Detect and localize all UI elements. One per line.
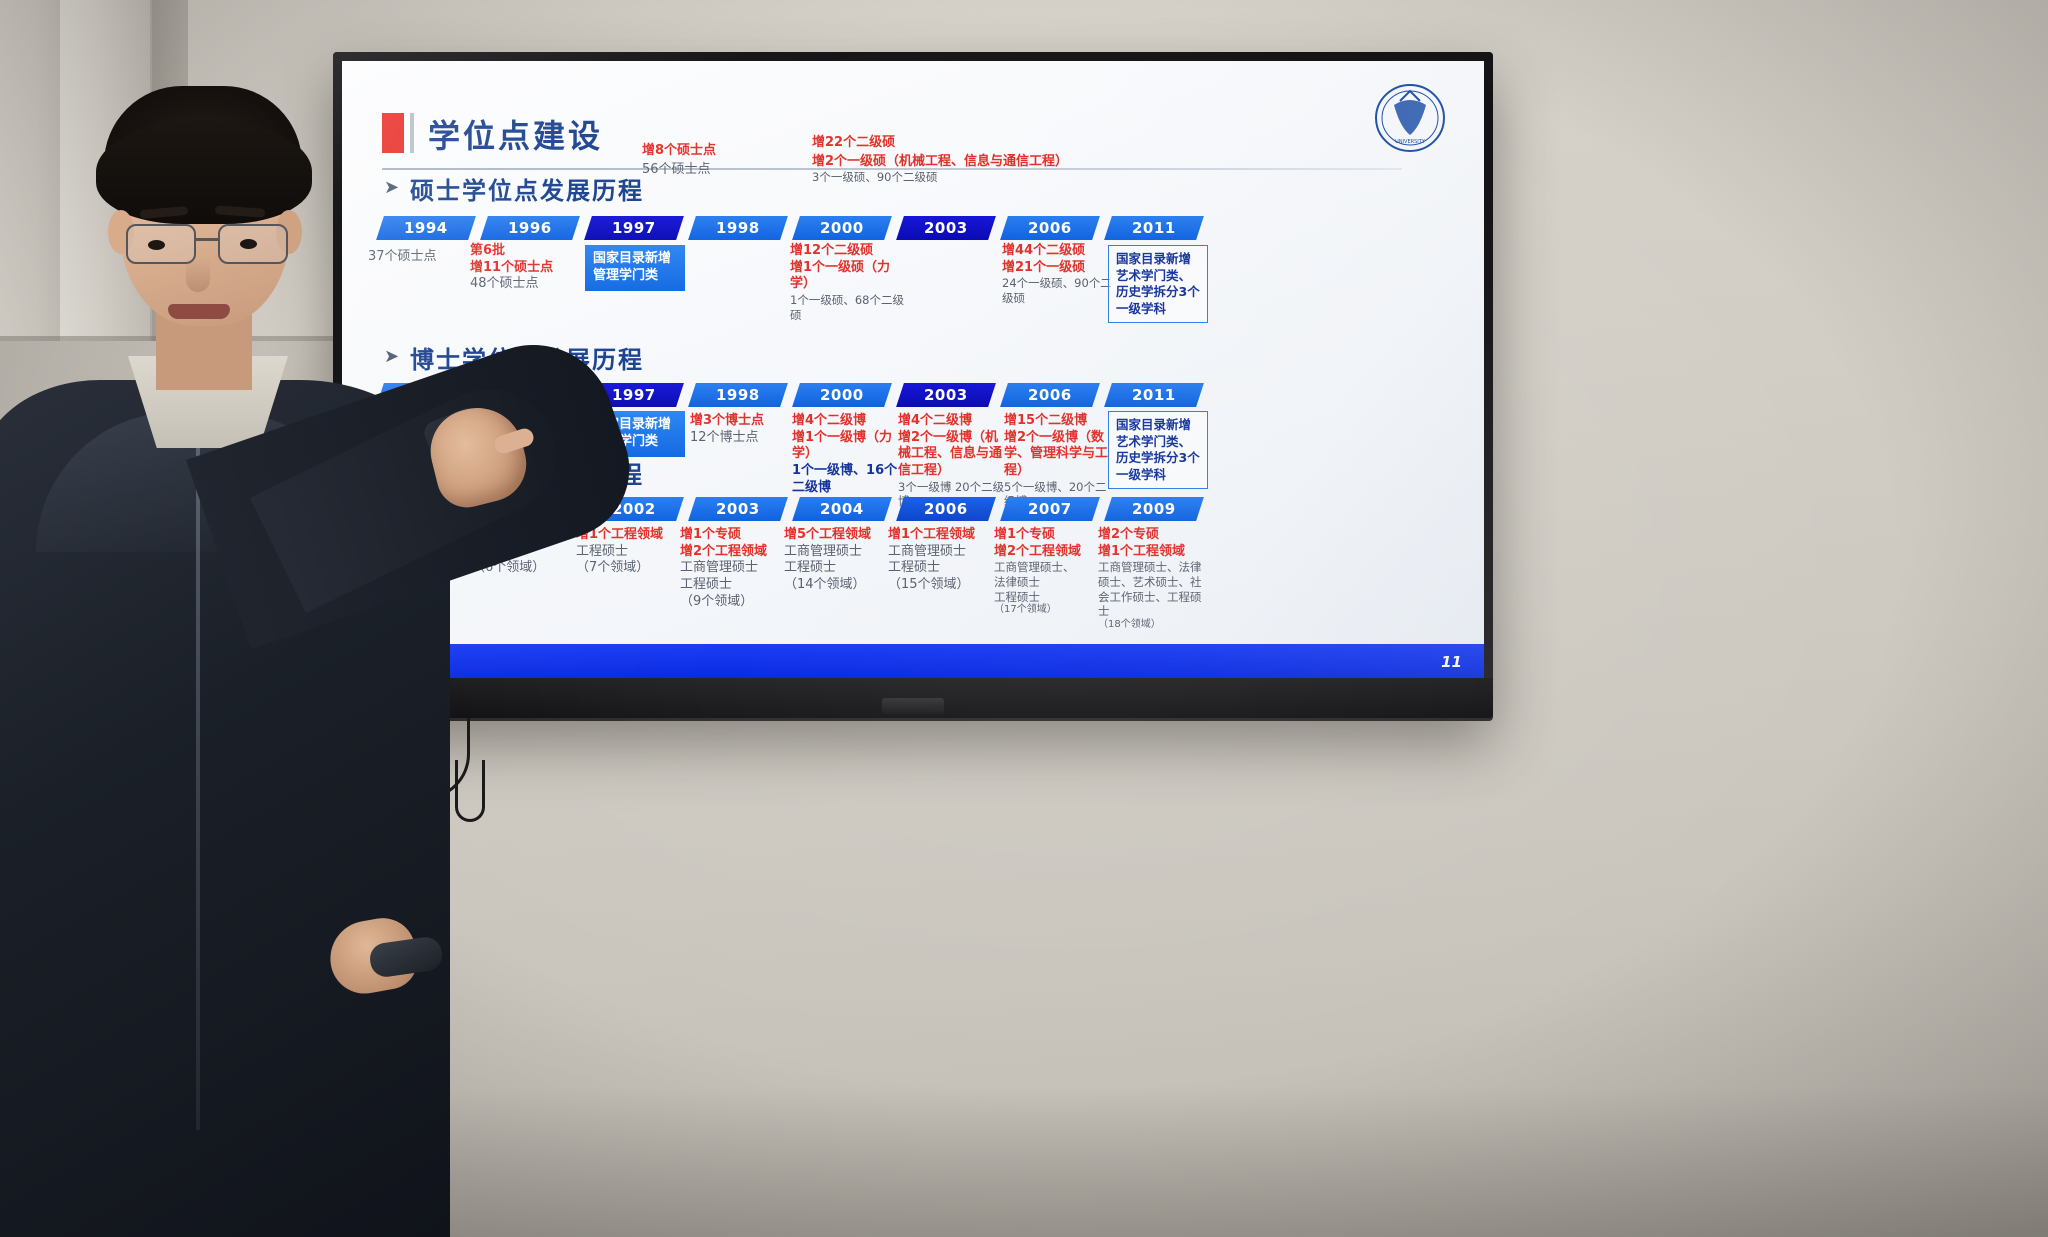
year-bar-2007-prof[interactable]: 2007: [1000, 497, 1100, 521]
university-emblem-icon: UNIVERSITY: [1374, 83, 1446, 153]
year-bar-2003-doctor[interactable]: 2003: [896, 383, 996, 407]
callout-2011-master: 国家目录新增艺术学门类、历史学拆分3个一级学科: [1108, 245, 1208, 323]
year-bar-2011-master[interactable]: 2011: [1104, 216, 1204, 240]
eyeglass-bridge: [196, 238, 220, 241]
year-bar-1997-master[interactable]: 1997: [584, 216, 684, 240]
year-bar-2003-prof[interactable]: 2003: [688, 497, 788, 521]
presenter-eye-right: [240, 239, 257, 249]
year-bar-2011-doctor[interactable]: 2011: [1104, 383, 1204, 407]
presenter-eye-left: [148, 240, 165, 250]
year-bar-2003-master[interactable]: 2003: [896, 216, 996, 240]
cell-2003-prof: 增1个专硕 增2个工程领域 工商管理硕士 工程硕士 （9个领域）: [680, 527, 786, 610]
cell-2000-master: 增12个二级硕 增1个一级硕（力学） 1个一级硕、68个二级硕: [790, 243, 908, 322]
svg-text:UNIVERSITY: UNIVERSITY: [1395, 139, 1426, 145]
year-bar-2000-master[interactable]: 2000: [792, 216, 892, 240]
cell-2004-prof: 增5个工程领域 工商管理硕士 工程硕士 （14个领域）: [784, 527, 894, 594]
year-bar-2006-master[interactable]: 2006: [1000, 216, 1100, 240]
presenter: [0, 60, 520, 1237]
cell-2006-master: 增44个二级硕 增21个一级硕 24个一级硕、90个二级硕: [1002, 243, 1112, 306]
presenter-nose: [186, 258, 210, 292]
year-bar-2006-doctor[interactable]: 2006: [1000, 383, 1100, 407]
tv-center-mount: [882, 698, 944, 714]
presenter-hair-front: [96, 120, 312, 224]
presenter-mouth: [168, 304, 230, 319]
cell-2002-prof: 增1个工程领域 工程硕士 （7个领域）: [576, 527, 682, 577]
year-bar-2009-prof[interactable]: 2009: [1104, 497, 1204, 521]
year-bar-1998-master[interactable]: 1998: [688, 216, 788, 240]
cell-2009-prof: 增2个专硕 增1个工程领域 工商管理硕士、法律硕士、艺术硕士、社会工作硕士、工程…: [1098, 527, 1212, 632]
year-bar-2000-doctor[interactable]: 2000: [792, 383, 892, 407]
year-bar-2004-prof[interactable]: 2004: [792, 497, 892, 521]
cell-1998-doctor: 增3个博士点 12个博士点: [690, 413, 794, 446]
note-2003: 增22个二级硕 增2个一级硕（机械工程、信息与通信工程） 3个一级硕、90个二级…: [812, 131, 1142, 185]
cell-2007-prof: 增1个专硕 增2个工程领域 工商管理硕士、 法律硕士 工程硕士 （17个领域）: [994, 527, 1100, 617]
year-bar-1998-doctor[interactable]: 1998: [688, 383, 788, 407]
callout-2011-doctor: 国家目录新增艺术学门类、历史学拆分3个一级学科: [1108, 411, 1208, 489]
page-number: 11: [1441, 653, 1462, 671]
cell-2006-doctor: 增15个二级博 增2个一级博（数学、管理科学与工程） 5个一级博、20个二级博: [1004, 413, 1110, 509]
callout-1997-master: 国家目录新增管理学门类: [585, 245, 685, 291]
jacket-zipper: [196, 430, 200, 1130]
cell-2003-doctor: 增4个二级博 增2个一级博（机械工程、信息与通信工程） 3个一级博 20个二级博: [898, 413, 1006, 509]
year-bar-2006-prof[interactable]: 2006: [896, 497, 996, 521]
cell-2006-prof: 增1个工程领域 工商管理硕士 工程硕士 （15个领域）: [888, 527, 998, 594]
cell-2000-doctor: 增4个二级博 增1个一级博（力学） 1个一级博、16个二级博: [792, 413, 898, 496]
room-scene: 学位点建设 UNIVERSITY ➤ 硕士学位点发展历程: [0, 0, 2048, 1237]
